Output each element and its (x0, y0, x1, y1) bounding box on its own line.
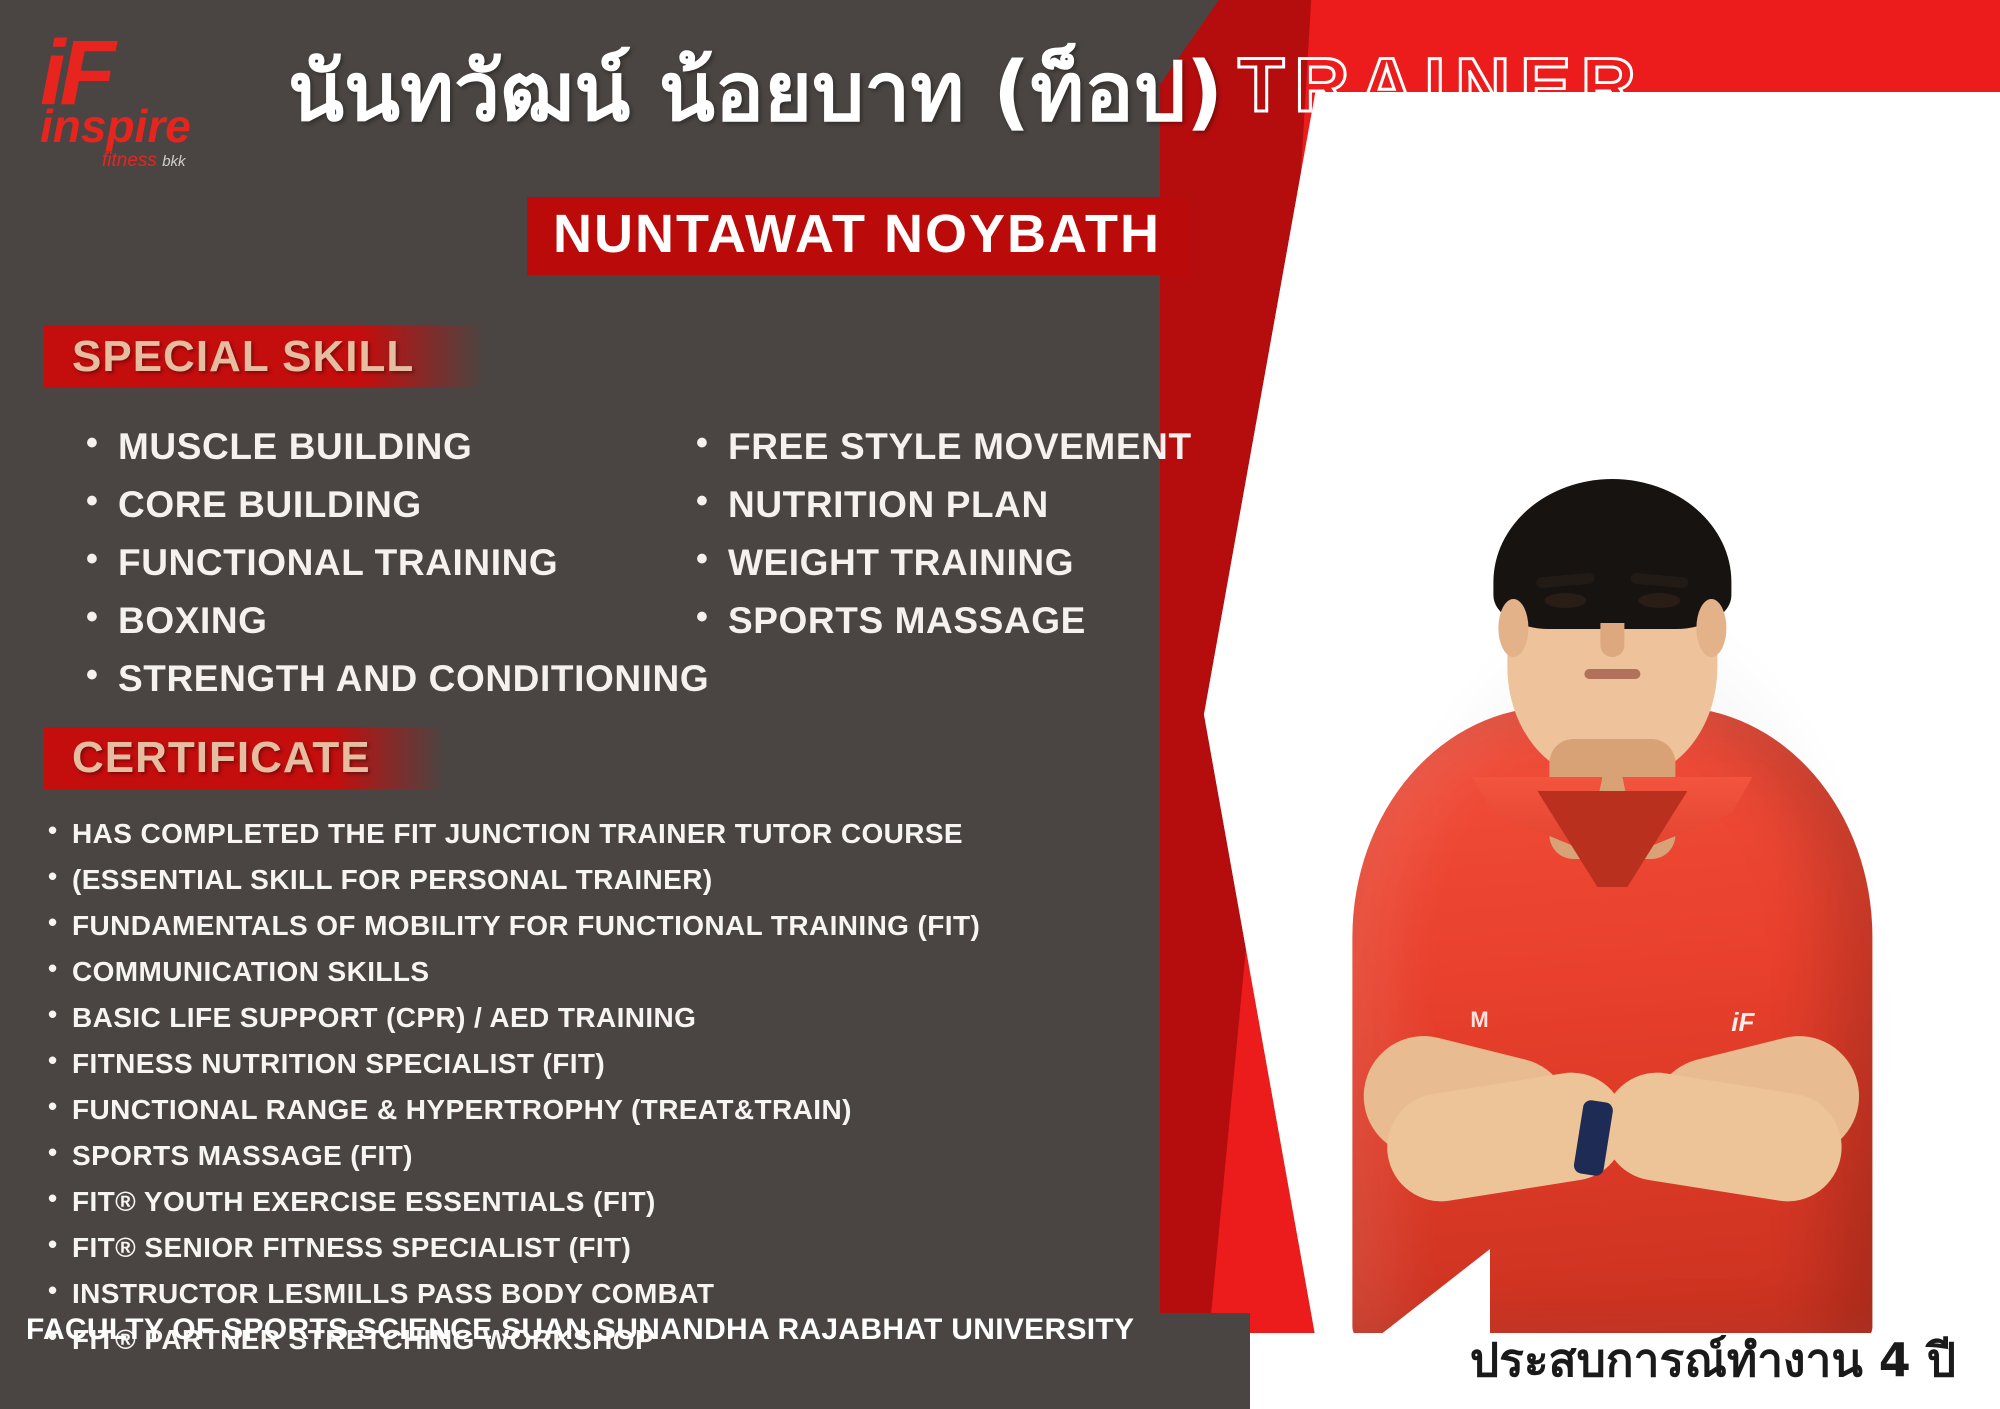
experience-label: ประสบการณ์ทำงาน 4 ปี (1470, 1324, 1956, 1397)
logo-tagline-fitness: fitness (102, 150, 157, 171)
trainer-photo: iF M (1204, 92, 2000, 1337)
section-heading-special-skill: SPECIAL SKILL (44, 326, 484, 388)
certificate-list: HAS COMPLETED THE FIT JUNCTION TRAINER T… (44, 818, 1164, 1370)
photo-eye-right (1638, 593, 1680, 608)
photo-eye-left (1544, 593, 1586, 608)
list-item: SPORTS MASSAGE (696, 600, 1192, 642)
list-item: CORE BUILDING (86, 484, 696, 526)
list-item: INSTRUCTOR LESMILLS PASS BODY COMBAT (44, 1278, 1164, 1310)
photo-hair (1493, 479, 1731, 629)
logo-tagline: fitness bkk (102, 150, 210, 172)
section-heading-certificate: CERTIFICATE (44, 727, 444, 789)
special-skill-column-left: MUSCLE BUILDING CORE BUILDING FUNCTIONAL… (86, 426, 696, 716)
list-item: COMMUNICATION SKILLS (44, 956, 1164, 988)
list-item: WEIGHT TRAINING (696, 542, 1192, 584)
list-item: FIT® YOUTH EXERCISE ESSENTIALS (FIT) (44, 1186, 1164, 1218)
trainer-photo-chevron: iF M (1204, 92, 2000, 1337)
certificate-items: HAS COMPLETED THE FIT JUNCTION TRAINER T… (44, 818, 1164, 1356)
trainer-profile-poster: iF M TRAINER ประสบการณ์ทำงาน 4 ปี iF ins… (0, 0, 2000, 1409)
list-item: (ESSENTIAL SKILL FOR PERSONAL TRAINER) (44, 864, 1164, 896)
logo-tagline-bkk: bkk (162, 153, 185, 170)
faculty-line: FACULTY OF SPORTS SCIENCE SUAN SUNANDHA … (26, 1313, 1134, 1347)
section-heading-certificate-label: CERTIFICATE (72, 733, 371, 783)
role-badge: TRAINER (1238, 42, 1646, 129)
photo-nose (1600, 623, 1624, 657)
list-item: FUNCTIONAL RANGE & HYPERTROPHY (TREAT&TR… (44, 1094, 1164, 1126)
list-item: BASIC LIFE SUPPORT (CPR) / AED TRAINING (44, 1002, 1164, 1034)
list-item: SPORTS MASSAGE (FIT) (44, 1140, 1164, 1172)
trainer-name-banner: NUNTAWAT NOYBATH (527, 197, 1187, 275)
logo-wordmark: inspire (40, 106, 210, 147)
photo-ear-right (1696, 599, 1726, 657)
list-item: FREE STYLE MOVEMENT (696, 426, 1192, 468)
list-item: FITNESS NUTRITION SPECIALIST (FIT) (44, 1048, 1164, 1080)
photo-ear-left (1498, 599, 1528, 657)
photo-mouth (1584, 669, 1640, 679)
list-item: MUSCLE BUILDING (86, 426, 696, 468)
special-skill-lists: MUSCLE BUILDING CORE BUILDING FUNCTIONAL… (86, 426, 1196, 716)
photo-torso: iF M (1352, 707, 1872, 1337)
right-panel: iF M TRAINER ประสบการณ์ทำงาน 4 ปี (1160, 0, 2000, 1409)
trainer-name-latin: NUNTAWAT NOYBATH (553, 207, 1161, 261)
list-item: FUNDAMENTALS OF MOBILITY FOR FUNCTIONAL … (44, 910, 1164, 942)
shirt-logo-left: M (1470, 1007, 1488, 1033)
list-item: HAS COMPLETED THE FIT JUNCTION TRAINER T… (44, 818, 1164, 850)
section-heading-special-skill-label: SPECIAL SKILL (72, 332, 414, 382)
special-skill-column-right: FREE STYLE MOVEMENT NUTRITION PLAN WEIGH… (696, 426, 1192, 716)
list-item: STRENGTH AND CONDITIONING (86, 658, 696, 700)
trainer-name-thai: นันทวัฒน์ น้อยบาท (ท็อป) (288, 52, 1223, 134)
inspire-fitness-logo: iF inspire fitness bkk (40, 34, 210, 174)
list-item: FIT® SENIOR FITNESS SPECIALIST (FIT) (44, 1232, 1164, 1264)
list-item: FUNCTIONAL TRAINING (86, 542, 696, 584)
list-item: BOXING (86, 600, 696, 642)
list-item: NUTRITION PLAN (696, 484, 1192, 526)
shirt-logo-right: iF (1731, 1007, 1754, 1038)
